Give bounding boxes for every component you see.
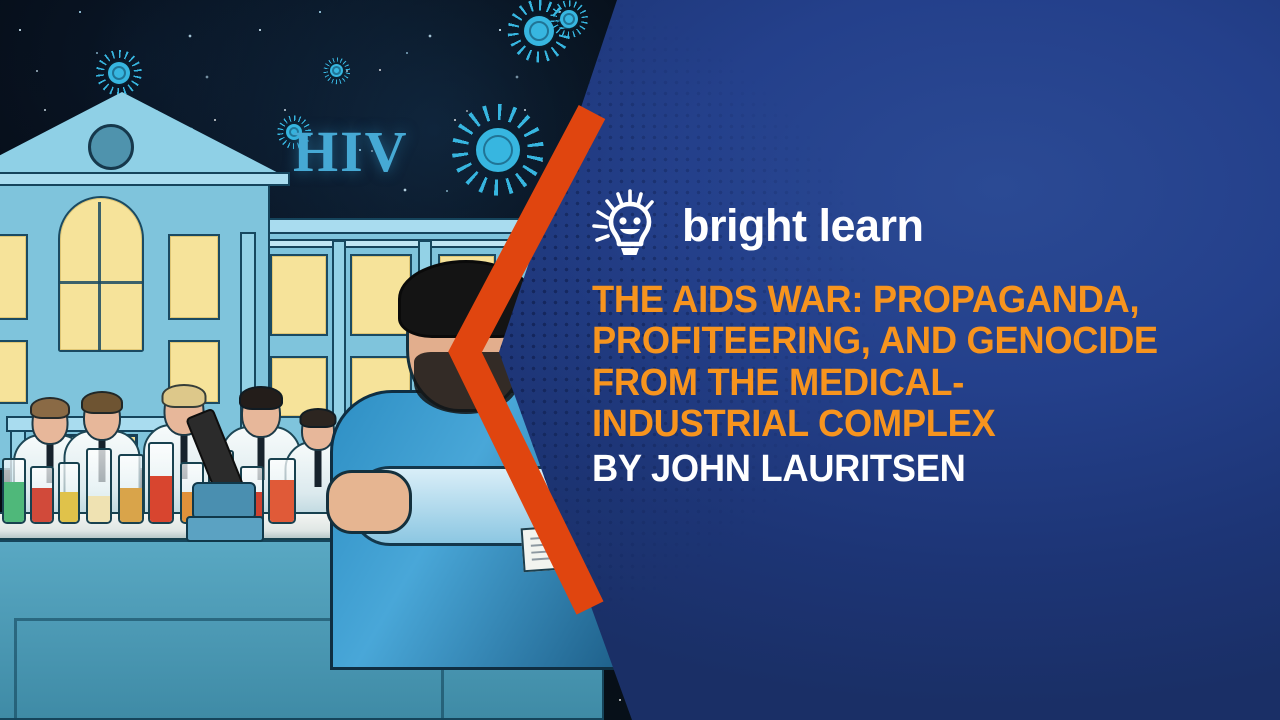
vial-cap [35,466,51,468]
author-byline: BY JOHN LAURITSEN [592,448,1234,491]
building-right-cornice [248,218,544,234]
scientist-hair [239,386,283,410]
vial-cap [63,462,79,464]
headline-line-1: THE AIDS WAR: PROPAGANDA, [592,280,1234,321]
scientist-hair [81,391,123,414]
scientist-hair [162,384,207,408]
specimen-vial [268,458,296,524]
virus-particle [560,10,578,28]
foreground-scientist-hand [326,470,412,534]
building-main-cornice [0,172,290,186]
vial-cap [7,458,23,460]
microscope [190,430,260,550]
headline-title: THE AIDS WAR: PROPAGANDA, PROFITEERING, … [592,280,1234,446]
vial-liquid [60,492,78,522]
specimen-vial [2,458,26,524]
virus-particle [330,64,343,77]
brand-logo-text: brightlearn [682,203,924,248]
vial-cap [273,458,289,460]
specimen-vial [58,462,80,524]
specimen-vial [118,454,144,524]
headline-line-4: INDUSTRIAL COMPLEX [592,404,1234,445]
building-seal-emblem [88,124,134,170]
brand-logo[interactable]: brightlearn [592,186,1264,264]
building-window [168,234,220,320]
vial-cap [91,448,107,450]
window-mullion [60,281,142,284]
headline-line-3: FROM THE MEDICAL- [592,363,1234,404]
microscope-base [186,516,264,542]
brand-word-learn: learn [818,200,923,251]
vial-liquid [150,476,172,522]
vial-liquid [32,488,52,522]
vial-liquid [270,480,294,522]
building-pediment [0,92,288,178]
panel-content: brightlearn THE AIDS WAR: PROPAGANDA, PR… [592,186,1264,490]
vial-cap [123,454,139,456]
specimen-vial [148,442,174,524]
microscope-arm [192,482,256,520]
brand-word-bright: bright [682,200,806,251]
thumbnail-canvas: HIV [0,0,1280,720]
virus-particle [108,62,130,84]
vial-liquid [4,482,24,522]
vial-cap [153,442,169,444]
building-window [0,234,28,320]
window-mullion [98,202,101,352]
headline-line-2: PROFITEERING, AND GENOCIDE [592,321,1234,362]
specimen-vial [30,466,54,524]
vial-liquid [120,488,142,522]
vial-liquid [88,496,110,522]
building-arched-window [58,196,144,352]
building-right-cornice-lower [254,239,538,248]
specimen-vial [86,448,112,524]
lightbulb-smiley-icon [592,188,670,262]
